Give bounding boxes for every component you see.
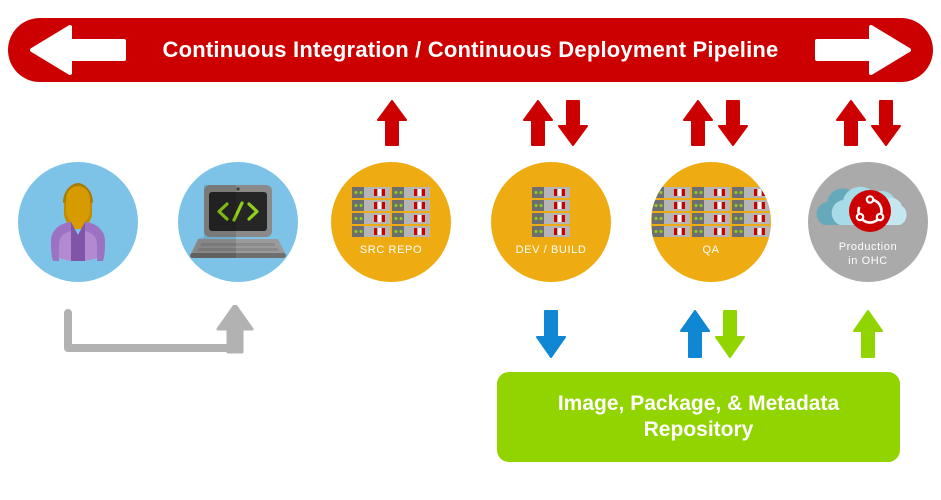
node-label-src-repo: SRC REPO: [360, 244, 422, 258]
node-production: Production in OHC: [808, 162, 928, 282]
server-rack-icon: [531, 186, 571, 240]
node-developer: [18, 162, 138, 282]
person-icon: [39, 179, 117, 265]
server-rack-icon: [651, 186, 771, 240]
arrow-up-qa-repo: [680, 310, 710, 358]
repository-box: Image, Package, & Metadata Repository: [497, 372, 900, 462]
arrow-down-dev-build: [558, 100, 588, 146]
arrow-down-dev-build-repo: [536, 310, 566, 358]
arrow-up-production-repo: [853, 310, 883, 358]
arrow-left-icon: [30, 25, 126, 75]
cloud-openshift-icon: [816, 175, 920, 237]
laptop-code-icon: [188, 183, 288, 261]
pipeline-banner: Continuous Integration / Continuous Depl…: [8, 18, 933, 82]
server-rack-icon: [351, 186, 431, 240]
node-qa: QA: [651, 162, 771, 282]
node-label-production: Production in OHC: [839, 241, 898, 269]
developer-to-workstation-connector: [60, 305, 260, 360]
arrow-up-production: [836, 100, 866, 146]
arrow-down-qa-repo: [715, 310, 745, 358]
node-dev-build: DEV / BUILD: [491, 162, 611, 282]
arrow-up-qa: [683, 100, 713, 146]
arrow-up-dev-build: [523, 100, 553, 146]
node-src-repo: SRC REPO: [331, 162, 451, 282]
node-label-dev-build: DEV / BUILD: [516, 244, 587, 258]
cicd-pipeline-diagram: Continuous Integration / Continuous Depl…: [0, 0, 941, 500]
pipeline-banner-title: Continuous Integration / Continuous Depl…: [163, 37, 779, 63]
repository-title: Image, Package, & Metadata Repository: [558, 391, 839, 444]
arrow-down-production: [871, 100, 901, 146]
arrow-up-src-repo: [377, 100, 407, 146]
node-label-qa: QA: [702, 244, 719, 258]
node-workstation: [178, 162, 298, 282]
arrow-right-icon: [815, 25, 911, 75]
arrow-down-qa: [718, 100, 748, 146]
